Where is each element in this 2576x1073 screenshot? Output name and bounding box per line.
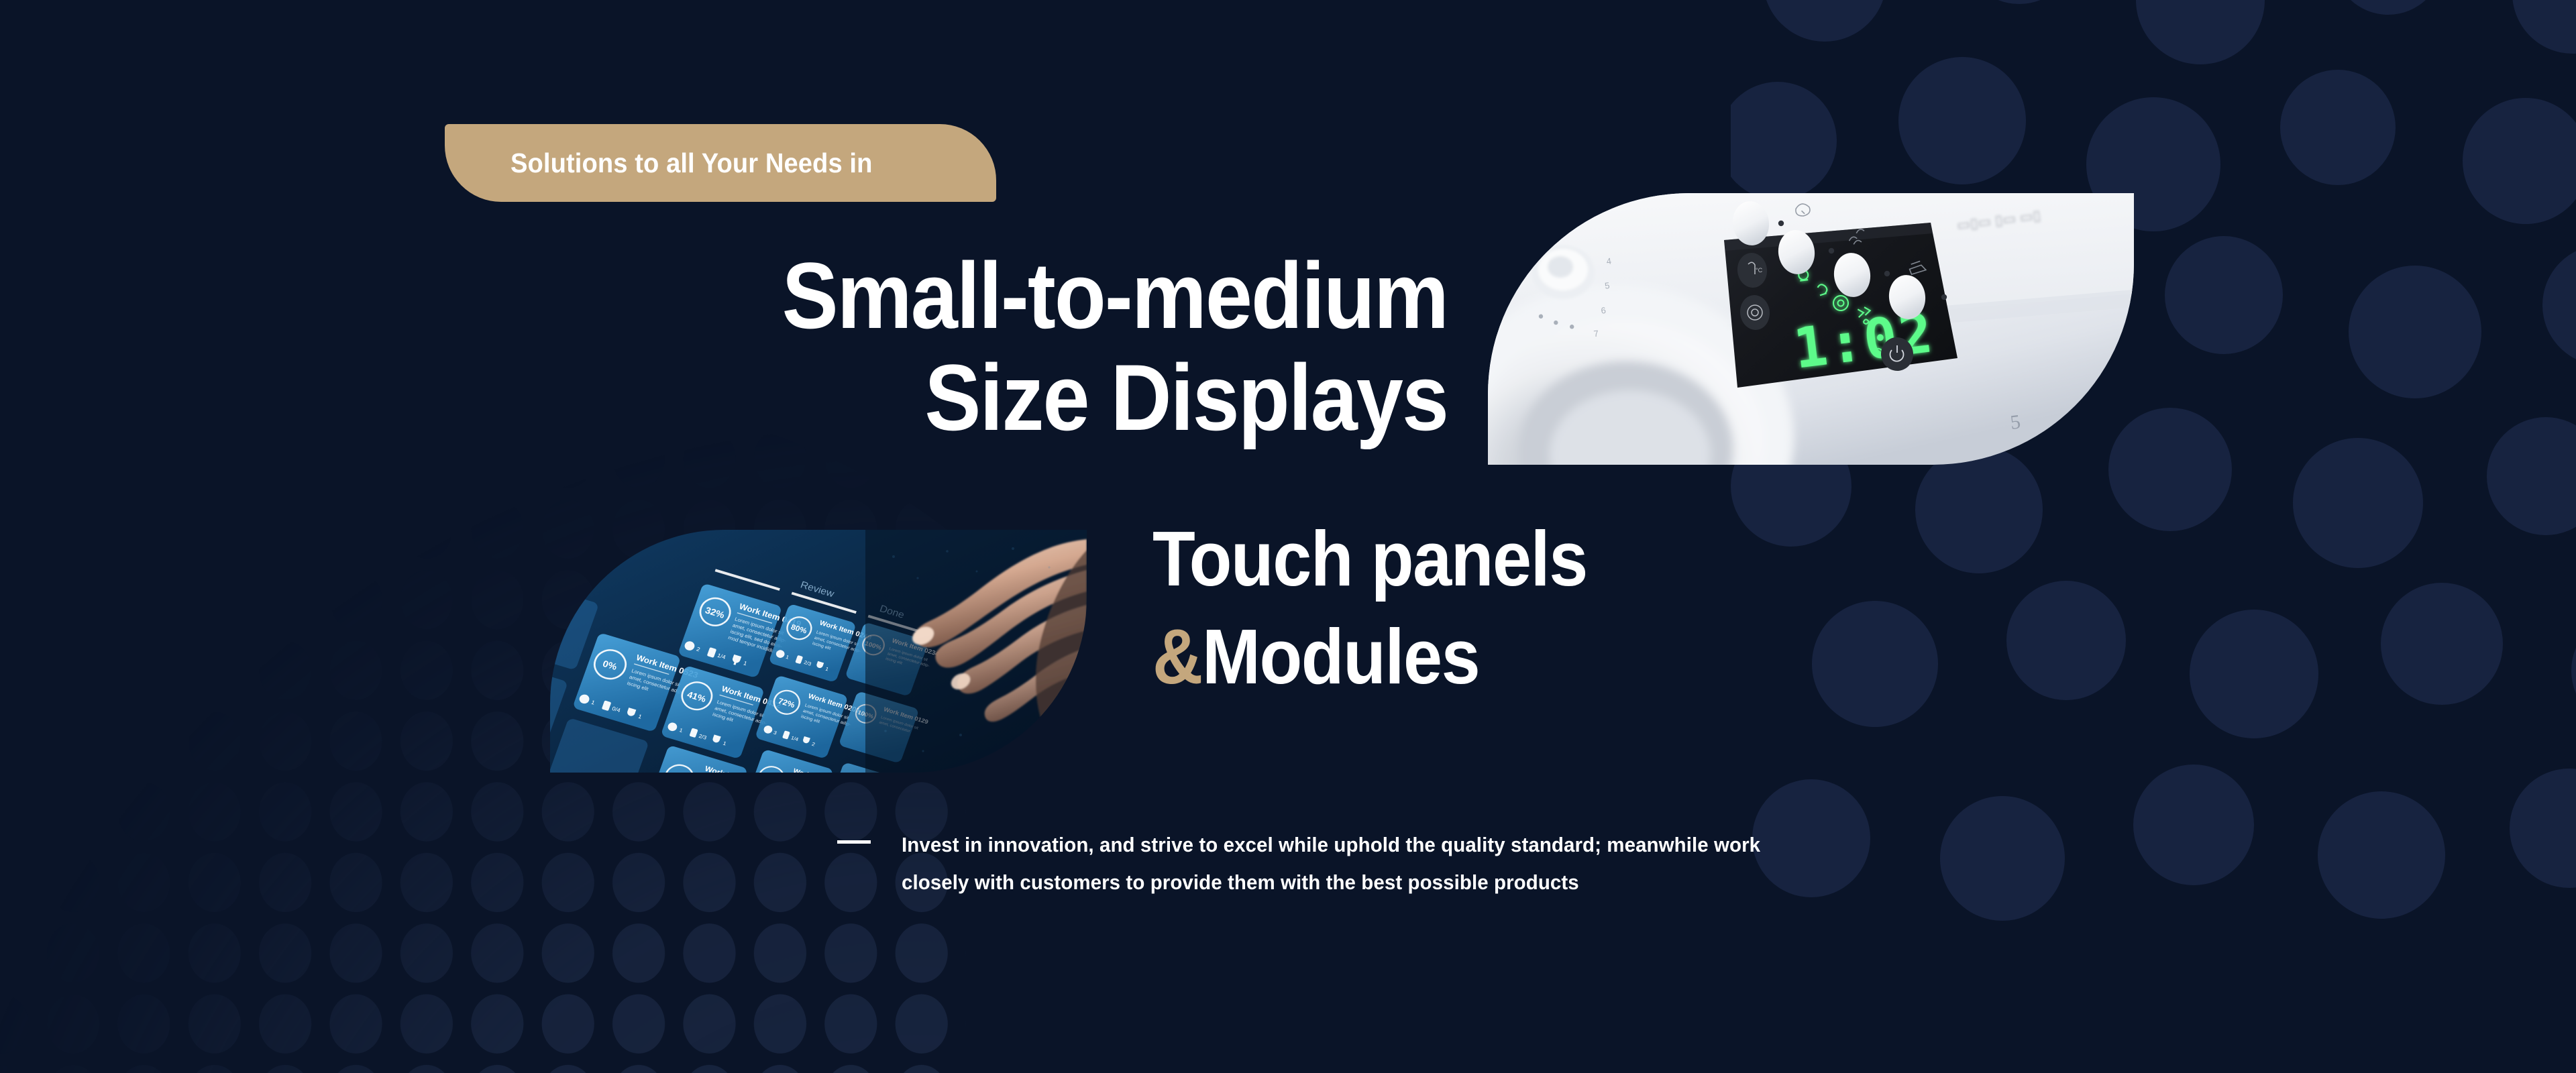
page-title: Small-to-medium Size Displays xyxy=(0,245,1449,449)
page-title-line-2: Size Displays xyxy=(145,347,1448,449)
lede-paragraph: Invest in innovation, and strive to exce… xyxy=(902,826,1861,901)
eyebrow-badge-label: Solutions to all Your Needs in xyxy=(511,148,873,179)
subtitle-line-2-text: Modules xyxy=(1202,613,1479,700)
hero-section: Solutions to all Your Needs in Small-to-… xyxy=(0,0,2576,1073)
svg-text:°C: °C xyxy=(1756,267,1763,274)
eyebrow-badge: Solutions to all Your Needs in xyxy=(445,124,996,202)
ampersand-accent: & xyxy=(1152,613,1202,700)
page-title-line-1: Small-to-medium xyxy=(145,245,1448,347)
subtitle-line-2: &Modules xyxy=(1152,608,1587,705)
subtitle-line-1: Touch panels xyxy=(1152,510,1587,608)
lede-dash-rule xyxy=(837,840,871,844)
lede-paragraph-text: Invest in innovation, and strive to exce… xyxy=(902,826,1813,901)
program-dial xyxy=(1532,245,1595,299)
subtitle: Touch panels &Modules xyxy=(1152,510,1635,705)
touchscreen-photo: Review Done 32% Work Item 0419 Lorem ips… xyxy=(550,530,1087,773)
washing-machine-photo: 4 5 6 7 °C xyxy=(1488,193,2134,465)
